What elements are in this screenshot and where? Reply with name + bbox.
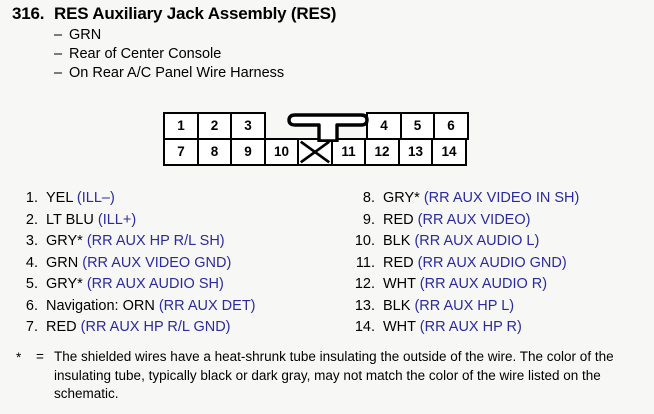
pin-signal-name: (RR AUX AUDIO GND) <box>418 255 567 271</box>
pin-signal-name: (RR AUX HP R) <box>420 319 522 335</box>
footnote-asterisk-marker: * <box>16 348 36 368</box>
pin-wire-color: WHT <box>383 319 420 335</box>
pin-label: BLK (RR AUX HP L) <box>375 296 514 318</box>
pin-label: LT BLU (ILL+) <box>38 210 136 232</box>
pin-wire-color: RED <box>383 212 418 228</box>
pin-number: 2. <box>18 210 38 232</box>
pin-signal-name: (ILL+) <box>98 212 136 228</box>
connector-pin-cell: 6 <box>433 112 469 140</box>
connector-pin-cell: 9 <box>230 138 266 166</box>
pin-list-right: 8. GRY* (RR AUX VIDEO IN SH) 9. RED (RR … <box>345 188 645 339</box>
pin-number: 9. <box>345 210 375 232</box>
pin-list-item: 2. LT BLU (ILL+) <box>18 210 328 232</box>
pin-signal-name: (RR AUX VIDEO GND) <box>82 255 231 271</box>
pin-label: RED (RR AUX HP R/L GND) <box>38 317 231 339</box>
pin-number: 3. <box>18 231 38 253</box>
connector-pin-cell: 5 <box>400 112 436 140</box>
pin-signal-name: (RR AUX HP L) <box>414 298 514 314</box>
heading-block: 316. RES Auxiliary Jack Assembly (RES) –… <box>12 4 642 83</box>
cross-icon <box>299 140 331 164</box>
pin-signal-name: (RR AUX VIDEO) <box>418 212 531 228</box>
pin-label: GRN (RR AUX VIDEO GND) <box>38 253 231 275</box>
pin-signal-name: (ILL–) <box>77 190 115 206</box>
pin-label: WHT (RR AUX AUDIO R) <box>375 274 547 296</box>
pin-wire-color: LT BLU <box>46 212 98 228</box>
pin-label: RED (RR AUX VIDEO) <box>375 210 530 232</box>
pin-number: 14. <box>345 317 375 339</box>
pin-number: 11. <box>345 253 375 275</box>
page-title: RES Auxiliary Jack Assembly (RES) <box>54 4 336 24</box>
connector-pin-cell: 8 <box>197 138 233 166</box>
pin-signal-name: (RR AUX AUDIO L) <box>414 233 539 249</box>
sub-item-label: On Rear A/C Panel Wire Harness <box>69 64 284 83</box>
pin-signal-name: (RR AUX AUDIO R) <box>420 276 547 292</box>
pin-list-item: 8. GRY* (RR AUX VIDEO IN SH) <box>345 188 645 210</box>
connector-latch-tab-icon <box>285 108 371 142</box>
heading-sub-list: – GRN – Rear of Center Console – On Rear… <box>12 26 642 83</box>
pin-list-item: 14. WHT (RR AUX HP R) <box>345 317 645 339</box>
pin-list-item: 7. RED (RR AUX HP R/L GND) <box>18 317 328 339</box>
footnote-equals-sign: = <box>36 348 54 367</box>
pin-label: RED (RR AUX AUDIO GND) <box>375 253 567 275</box>
pin-number: 8. <box>345 188 375 210</box>
pin-label: BLK (RR AUX AUDIO L) <box>375 231 539 253</box>
pin-list-item: 10. BLK (RR AUX AUDIO L) <box>345 231 645 253</box>
pin-list-item: 12. WHT (RR AUX AUDIO R) <box>345 274 645 296</box>
page-title-row: 316. RES Auxiliary Jack Assembly (RES) <box>12 4 642 24</box>
sub-item-label: GRN <box>69 26 101 45</box>
sub-item-label: Rear of Center Console <box>69 45 221 64</box>
connector-pin-cell: 3 <box>230 112 266 140</box>
section-number: 316. <box>12 4 54 24</box>
dash-icon: – <box>54 64 69 83</box>
pin-wire-color: YEL <box>46 190 77 206</box>
pin-label: Navigation: ORN (RR AUX DET) <box>38 296 256 318</box>
pin-number: 10. <box>345 231 375 253</box>
connector-pin-cell: 4 <box>366 112 402 140</box>
pin-wire-color: GRY* <box>46 276 87 292</box>
pin-wire-color: Navigation: ORN <box>46 298 159 314</box>
pin-wire-color: GRN <box>46 255 82 271</box>
pin-number: 12. <box>345 274 375 296</box>
pin-signal-name: (RR AUX DET) <box>159 298 256 314</box>
pin-label: GRY* (RR AUX VIDEO IN SH) <box>375 188 579 210</box>
dash-icon: – <box>54 45 69 64</box>
pin-list-item: 5. GRY* (RR AUX AUDIO SH) <box>18 274 328 296</box>
pin-signal-name: (RR AUX VIDEO IN SH) <box>424 190 580 206</box>
pin-wire-color: BLK <box>383 233 414 249</box>
sub-item-location: – Rear of Center Console <box>54 45 642 64</box>
dash-icon: – <box>54 26 69 45</box>
footnote-text: The shielded wires have a heat-shrunk tu… <box>54 348 642 404</box>
connector-pin-cell: 7 <box>163 138 199 166</box>
pin-list-item: 13. BLK (RR AUX HP L) <box>345 296 645 318</box>
pin-list-item: 11. RED (RR AUX AUDIO GND) <box>345 253 645 275</box>
pin-number: 13. <box>345 296 375 318</box>
pin-label: WHT (RR AUX HP R) <box>375 317 522 339</box>
pin-label: YEL (ILL–) <box>38 188 115 210</box>
pin-signal-name: (RR AUX HP R/L SH) <box>87 233 225 249</box>
sub-item-harness: – On Rear A/C Panel Wire Harness <box>54 64 642 83</box>
connector-pin-cell: 13 <box>398 138 434 166</box>
pin-signal-name: (RR AUX AUDIO SH) <box>87 276 224 292</box>
connector-pin-cell: 1 <box>163 112 199 140</box>
pin-label: GRY* (RR AUX HP R/L SH) <box>38 231 225 253</box>
footnote: * = The shielded wires have a heat-shrun… <box>16 348 642 404</box>
connector-bottom-row: 7 8 9 10 11 12 13 14 <box>163 140 467 168</box>
pin-number: 7. <box>18 317 38 339</box>
pin-list-item: 6. Navigation: ORN (RR AUX DET) <box>18 296 328 318</box>
pin-list-item: 3. GRY* (RR AUX HP R/L SH) <box>18 231 328 253</box>
pin-number: 4. <box>18 253 38 275</box>
connector-pin-cell: 2 <box>197 112 233 140</box>
pin-number: 5. <box>18 274 38 296</box>
pin-signal-name: (RR AUX HP R/L GND) <box>81 319 231 335</box>
pin-list-item: 9. RED (RR AUX VIDEO) <box>345 210 645 232</box>
pin-list-item: 1. YEL (ILL–) <box>18 188 328 210</box>
pin-number: 1. <box>18 188 38 210</box>
pin-wire-color: RED <box>383 255 418 271</box>
pin-label: GRY* (RR AUX AUDIO SH) <box>38 274 224 296</box>
pin-number: 6. <box>18 296 38 318</box>
pin-list-item: 4. GRN (RR AUX VIDEO GND) <box>18 253 328 275</box>
pin-wire-color: WHT <box>383 276 420 292</box>
pin-wire-color: BLK <box>383 298 414 314</box>
pin-wire-color: GRY* <box>383 190 424 206</box>
pin-wire-color: RED <box>46 319 81 335</box>
connector-pinout-diagram: 1 2 3 4 5 6 7 8 9 10 11 12 13 14 <box>163 112 493 170</box>
sub-item-connector-color: – GRN <box>54 26 642 45</box>
pin-list-left: 1. YEL (ILL–) 2. LT BLU (ILL+) 3. GRY* (… <box>18 188 328 339</box>
connector-pin-cell: 14 <box>431 138 467 166</box>
pin-wire-color: GRY* <box>46 233 87 249</box>
